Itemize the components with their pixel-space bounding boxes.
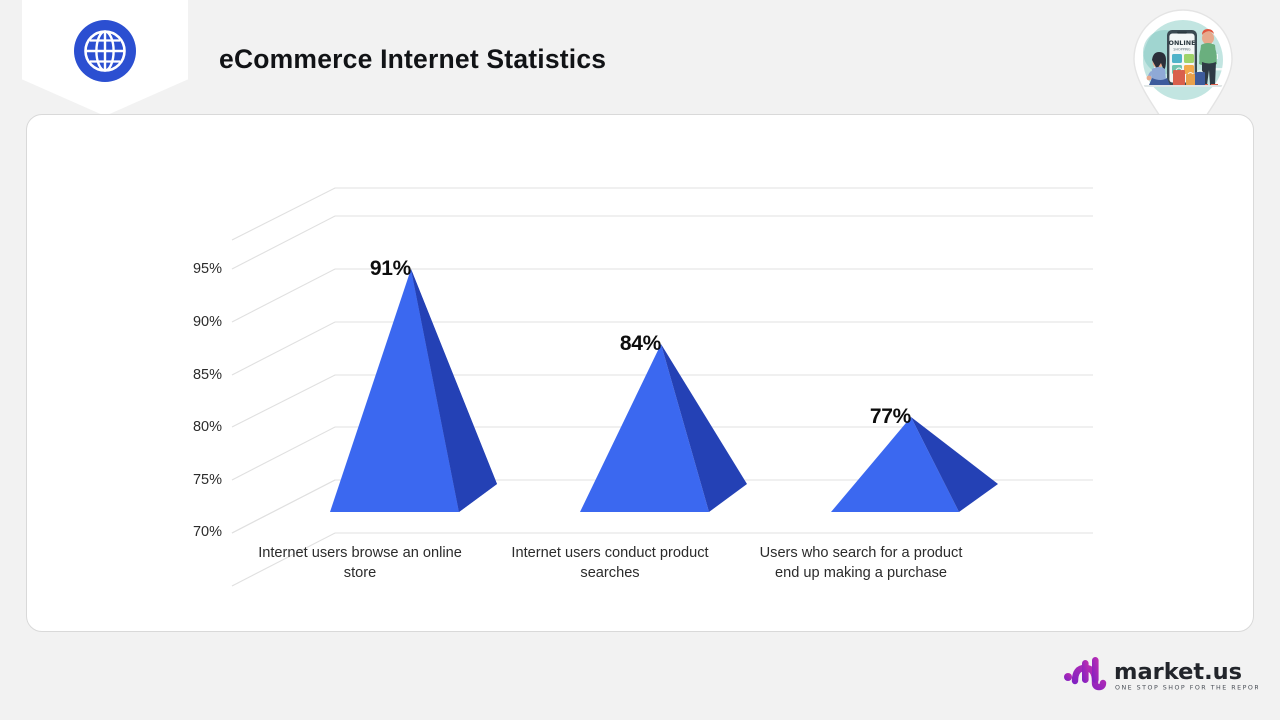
globe-icon — [74, 20, 136, 82]
category-label-1: Internet users browse an online store — [250, 543, 470, 583]
y-axis-tick-85: 85% — [172, 367, 222, 383]
svg-text:SHOPPING: SHOPPING — [1173, 48, 1191, 52]
data-label-1: 91% — [341, 257, 411, 281]
logo-mark — [1064, 657, 1103, 687]
market-us-logo: market.us ONE STOP SHOP FOR THE REPORTS — [1062, 655, 1258, 697]
y-axis-tick-75: 75% — [172, 472, 222, 488]
data-label-2: 84% — [591, 332, 661, 356]
svg-text:ONLINE: ONLINE — [1169, 39, 1196, 47]
logo-tagline: ONE STOP SHOP FOR THE REPORTS — [1115, 685, 1258, 692]
y-axis-tick-80: 80% — [172, 419, 222, 435]
y-axis-tick-70: 70% — [172, 524, 222, 540]
header-band — [0, 0, 1280, 115]
data-label-3: 77% — [841, 405, 911, 429]
logo-wordmark: market.us — [1114, 659, 1242, 685]
page-title: eCommerce Internet Statistics — [219, 44, 606, 75]
y-axis-tick-95: 95% — [172, 261, 222, 277]
category-label-3: Users who search for a product end up ma… — [751, 543, 971, 583]
category-label-2: Internet users conduct product searches — [500, 543, 720, 583]
y-axis-tick-90: 90% — [172, 314, 222, 330]
